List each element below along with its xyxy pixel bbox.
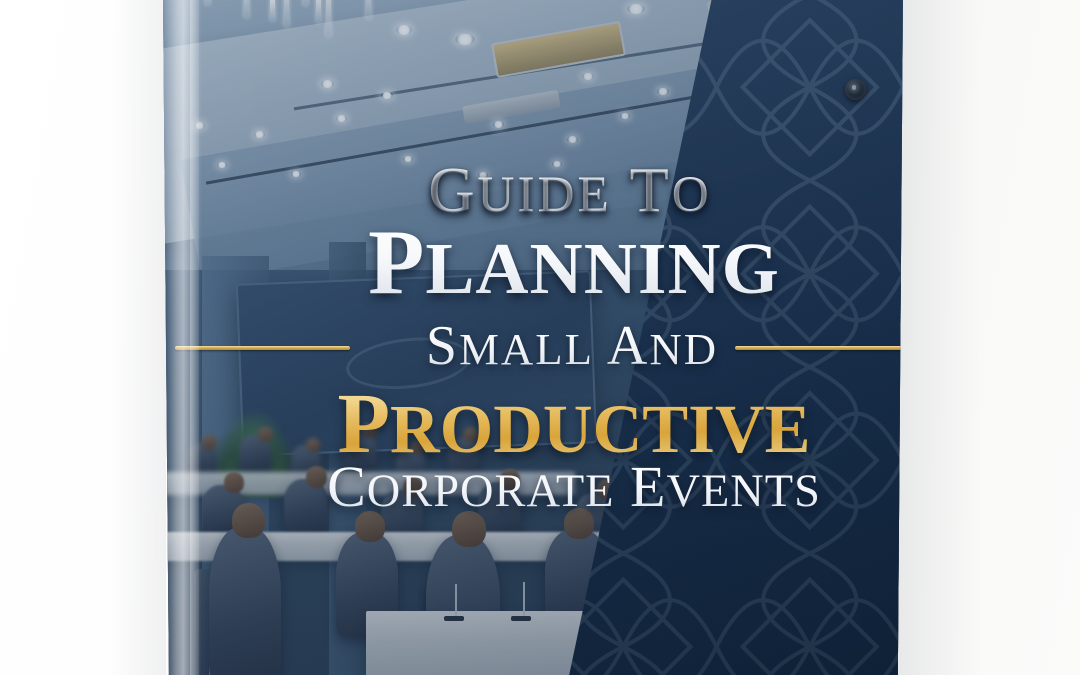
title-line-small-and: SMALL AND	[157, 318, 903, 374]
book-cover-mockup: GUIDE TO PLANNING SMALL AND PRODUCTIVE C…	[0, 0, 1080, 675]
cover-spine-edge	[190, 0, 202, 675]
background-shadow-left	[96, 0, 166, 675]
title-line-corporate-events: CORPORATE EVENTS	[157, 458, 903, 516]
title-line-guide-to: GUIDE TO	[157, 158, 903, 222]
cover-title-block: GUIDE TO PLANNING SMALL AND PRODUCTIVE C…	[157, 0, 903, 675]
title-line-planning: PLANNING	[157, 216, 903, 308]
book-cover: GUIDE TO PLANNING SMALL AND PRODUCTIVE C…	[157, 0, 903, 675]
title-line-productive: PRODUCTIVE	[157, 380, 903, 466]
